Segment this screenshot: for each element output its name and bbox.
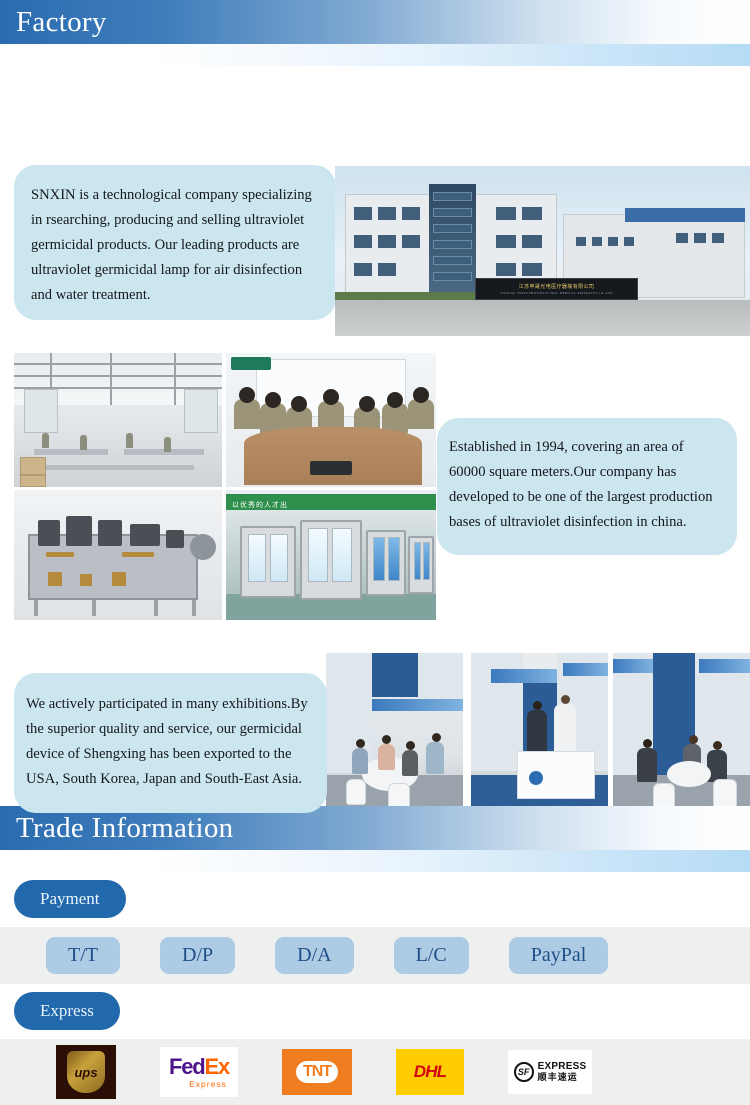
trade-title: Trade Information bbox=[0, 814, 233, 843]
ups-logo-text: ups bbox=[74, 1065, 97, 1080]
building-company-sign: 江苏申晟光电医疗器械有限公司 JIANGSU SNXIN PHOTOELECTR… bbox=[475, 278, 638, 300]
payment-method-lc[interactable]: L/C bbox=[394, 937, 469, 974]
machinery-photo bbox=[14, 490, 222, 620]
exhibition-photo-amsterdam bbox=[613, 653, 750, 821]
tnt-logo[interactable]: TNT bbox=[282, 1049, 352, 1095]
fedex-logo-text-fed: Fed bbox=[169, 1054, 205, 1079]
trade-banner-underband bbox=[0, 850, 750, 872]
fedex-logo-text-ex: Ex bbox=[205, 1054, 230, 1079]
tnt-logo-text: TNT bbox=[296, 1061, 338, 1083]
sf-logo-mark: SF bbox=[518, 1067, 530, 1077]
payment-methods-row: T/T D/P D/A L/C PayPal bbox=[0, 927, 750, 984]
callout-exhibitions-text: We actively participated in many exhibit… bbox=[26, 692, 315, 792]
trade-section-header: Trade Information bbox=[0, 806, 750, 872]
factory-content: SNXIN is a technological company special… bbox=[0, 66, 750, 806]
trade-content: Payment T/T D/P D/A L/C PayPal Express u… bbox=[0, 872, 750, 1105]
payment-button[interactable]: Payment bbox=[14, 880, 126, 918]
meeting-room-photo bbox=[226, 353, 436, 487]
uv-cabinet-photo: 以优秀的人才出 bbox=[226, 490, 436, 620]
payment-method-dp[interactable]: D/P bbox=[160, 937, 235, 974]
sf-logo-text-cn: 顺丰速运 bbox=[538, 1073, 587, 1082]
dhl-logo-text: DHL bbox=[414, 1062, 447, 1082]
uv-banner-text: 以优秀的人才出 bbox=[226, 501, 288, 509]
payment-method-da[interactable]: D/A bbox=[275, 937, 353, 974]
carrier-logos-row: ups FedEx Express TNT DHL SF bbox=[0, 1039, 750, 1105]
factory-building-photo: 江苏申晟光电医疗器械有限公司 JIANGSU SNXIN PHOTOELECTR… bbox=[335, 166, 750, 336]
factory-section-header: Factory bbox=[0, 0, 750, 66]
express-label-row: Express bbox=[0, 984, 750, 1039]
building-sign-cn: 江苏申晟光电医疗器械有限公司 bbox=[476, 283, 637, 290]
callout-established: Established in 1994, covering an area of… bbox=[437, 418, 737, 555]
fedex-logo-subtext: Express bbox=[189, 1079, 227, 1089]
fedex-logo[interactable]: FedEx Express bbox=[160, 1047, 238, 1097]
sf-express-logo[interactable]: SF EXPRESS 顺丰速运 bbox=[508, 1050, 592, 1094]
callout-intro: SNXIN is a technological company special… bbox=[14, 165, 336, 320]
building-sign-en: JIANGSU SNXIN PHOTOELECTRIC MEDICAL APPA… bbox=[476, 291, 637, 295]
sf-logo-text-en: EXPRESS bbox=[538, 1062, 587, 1073]
workshop-photo bbox=[14, 353, 222, 487]
exhibition-photo-shanghai bbox=[326, 653, 463, 821]
callout-established-text: Established in 1994, covering an area of… bbox=[449, 435, 723, 535]
payment-method-tt[interactable]: T/T bbox=[46, 937, 120, 974]
exhibition-photo-indonesia bbox=[471, 653, 608, 821]
factory-banner: Factory bbox=[0, 0, 750, 44]
page-title: Factory bbox=[0, 8, 107, 37]
payment-label-row: Payment bbox=[0, 872, 750, 927]
callout-intro-text: SNXIN is a technological company special… bbox=[31, 183, 319, 308]
callout-exhibitions: We actively participated in many exhibit… bbox=[14, 673, 327, 813]
payment-method-paypal[interactable]: PayPal bbox=[509, 937, 609, 974]
express-button[interactable]: Express bbox=[14, 992, 120, 1030]
ups-logo[interactable]: ups bbox=[56, 1045, 116, 1099]
dhl-logo[interactable]: DHL bbox=[396, 1049, 464, 1095]
factory-banner-underband bbox=[0, 44, 750, 66]
